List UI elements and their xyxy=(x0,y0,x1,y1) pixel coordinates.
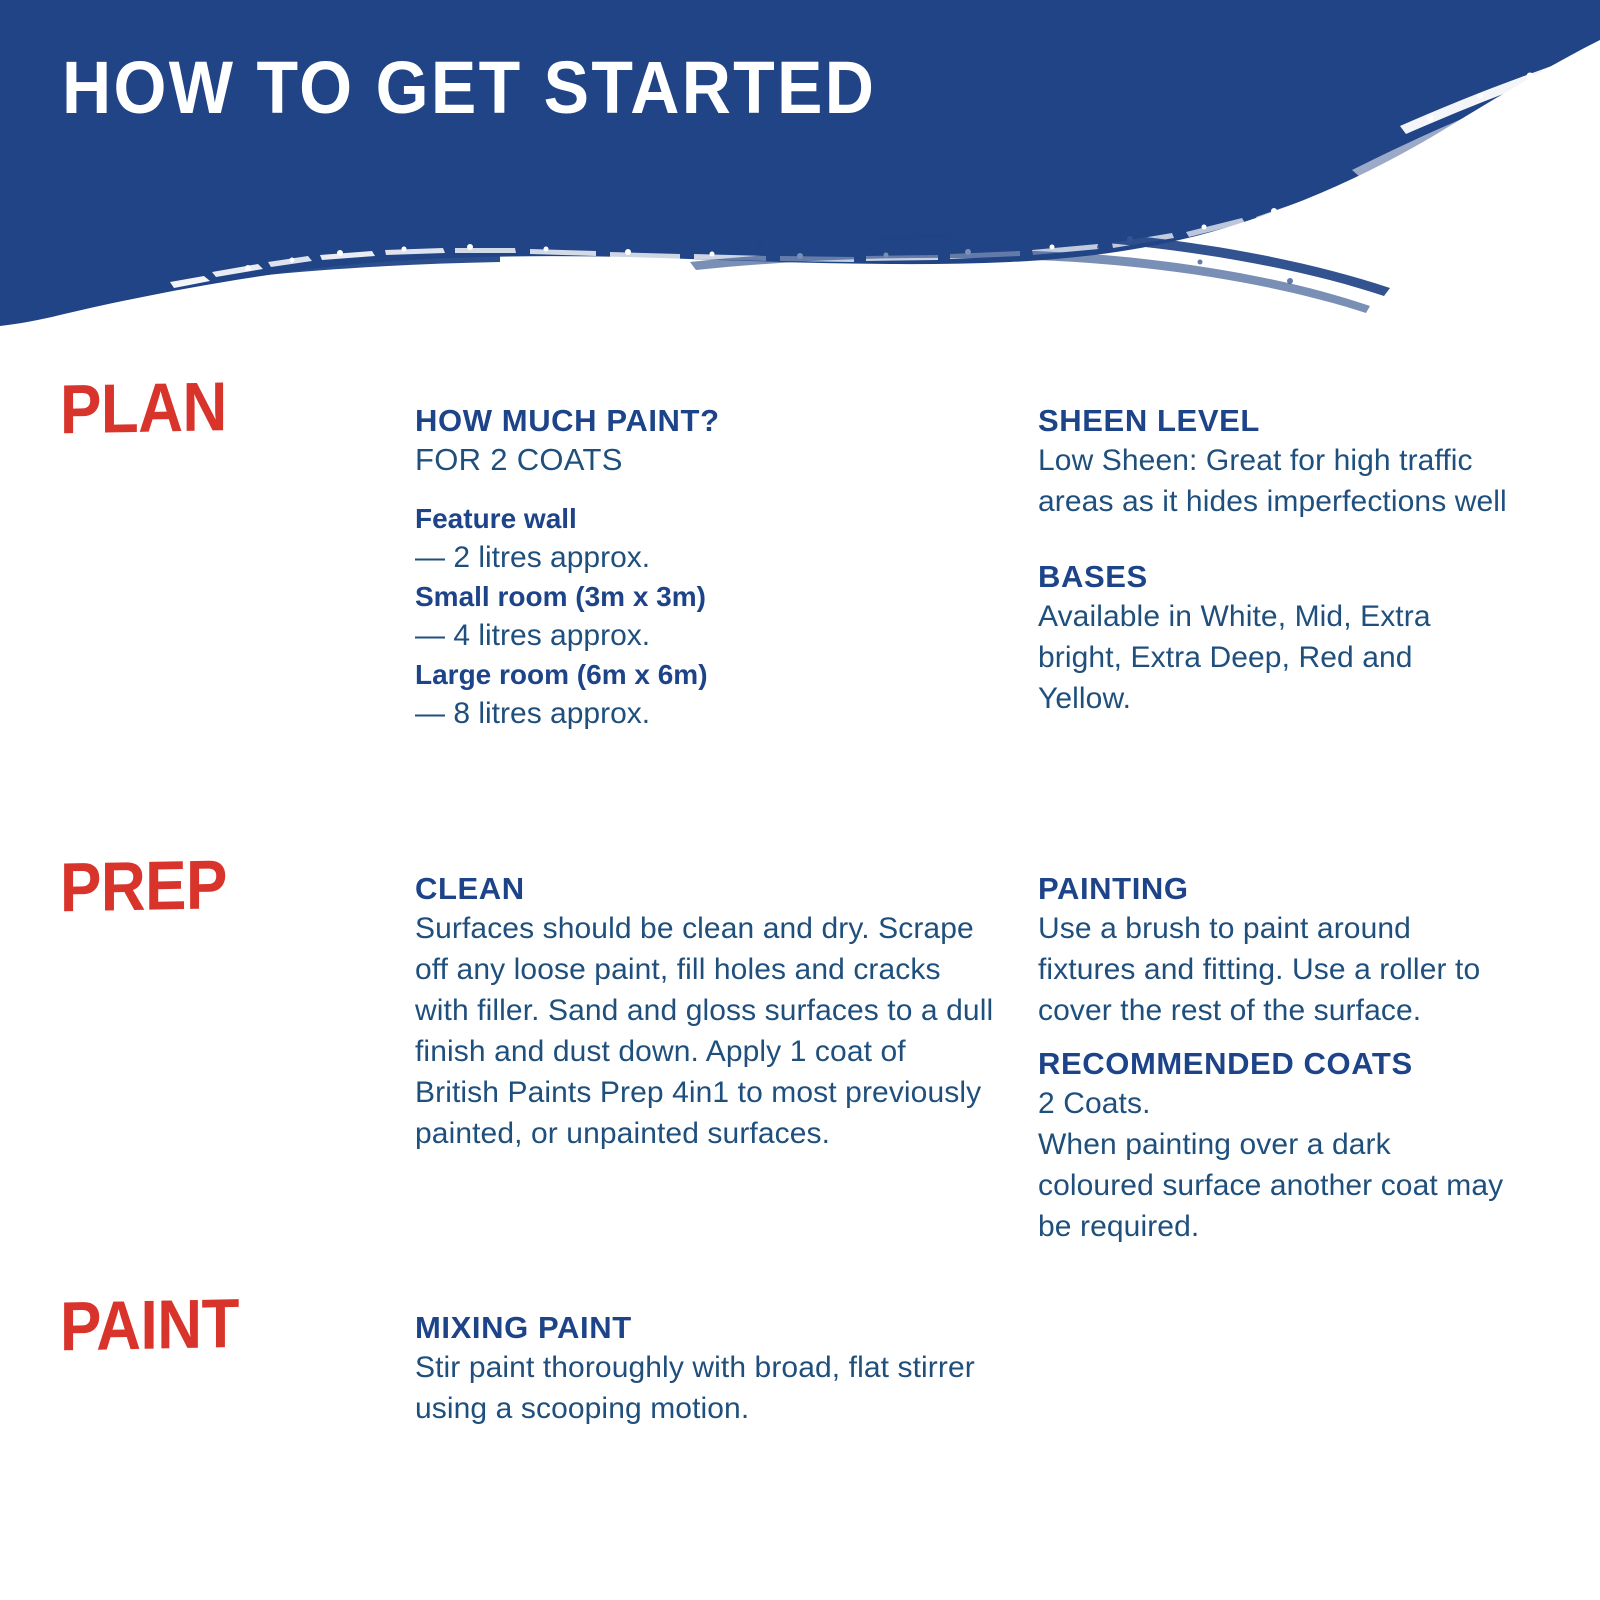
quantity-name: Feature wall xyxy=(415,500,995,538)
page-title: HOW TO GET STARTED xyxy=(62,48,876,128)
body-clean: Surfaces should be clean and dry. Scrape… xyxy=(415,908,995,1154)
plan-middle-column: HOW MUCH PAINT? FOR 2 COATS Feature wall… xyxy=(415,402,995,734)
prep-middle-column: CLEAN Surfaces should be clean and dry. … xyxy=(415,870,995,1154)
heading-recommended-coats: RECOMMENDED COATS xyxy=(1038,1045,1508,1083)
quantity-item: Large room (6m x 6m) — 8 litres approx. xyxy=(415,656,995,734)
body-sheen-level: Low Sheen: Great for high traffic areas … xyxy=(1038,440,1508,522)
block-sheen-level: SHEEN LEVEL Low Sheen: Great for high tr… xyxy=(1038,402,1508,522)
block-painting: PAINTING Use a brush to paint around fix… xyxy=(1038,870,1508,1031)
body-recommended-coats-note: When painting over a dark coloured surfa… xyxy=(1038,1124,1508,1247)
heading-bases: BASES xyxy=(1038,558,1508,596)
step-label-paint: PAINT xyxy=(60,1287,390,1363)
step-label-plan: PLAN xyxy=(60,370,390,446)
subheading-for-2-coats: FOR 2 COATS xyxy=(415,440,995,480)
heading-how-much-paint: HOW MUCH PAINT? xyxy=(415,402,995,440)
heading-clean: CLEAN xyxy=(415,870,995,908)
block-recommended-coats: RECOMMENDED COATS 2 Coats. When painting… xyxy=(1038,1045,1508,1247)
quantity-list: Feature wall — 2 litres approx. Small ro… xyxy=(415,500,995,734)
plan-right-column: SHEEN LEVEL Low Sheen: Great for high tr… xyxy=(1038,402,1508,719)
quantity-name: Small room (3m x 3m) xyxy=(415,578,995,616)
quantity-value: — 8 litres approx. xyxy=(415,694,995,734)
heading-painting: PAINTING xyxy=(1038,870,1508,908)
body-recommended-coats: 2 Coats. xyxy=(1038,1083,1508,1124)
body-bases: Available in White, Mid, Extra bright, E… xyxy=(1038,596,1508,719)
heading-mixing-paint: MIXING PAINT xyxy=(415,1309,975,1347)
quantity-item: Small room (3m x 3m) — 4 litres approx. xyxy=(415,578,995,656)
body-mixing-paint: Stir paint thoroughly with broad, flat s… xyxy=(415,1347,975,1429)
quantity-item: Feature wall — 2 litres approx. xyxy=(415,500,995,578)
block-bases: BASES Available in White, Mid, Extra bri… xyxy=(1038,558,1508,719)
body-painting: Use a brush to paint around fixtures and… xyxy=(1038,908,1508,1031)
step-label-prep: PREP xyxy=(60,848,390,924)
quantity-name: Large room (6m x 6m) xyxy=(415,656,995,694)
heading-sheen-level: SHEEN LEVEL xyxy=(1038,402,1508,440)
header-band: HOW TO GET STARTED xyxy=(0,0,1600,340)
prep-right-column: PAINTING Use a brush to paint around fix… xyxy=(1038,870,1508,1247)
quantity-value: — 4 litres approx. xyxy=(415,616,995,656)
quantity-value: — 2 litres approx. xyxy=(415,538,995,578)
paint-middle-column: MIXING PAINT Stir paint thoroughly with … xyxy=(415,1309,975,1429)
